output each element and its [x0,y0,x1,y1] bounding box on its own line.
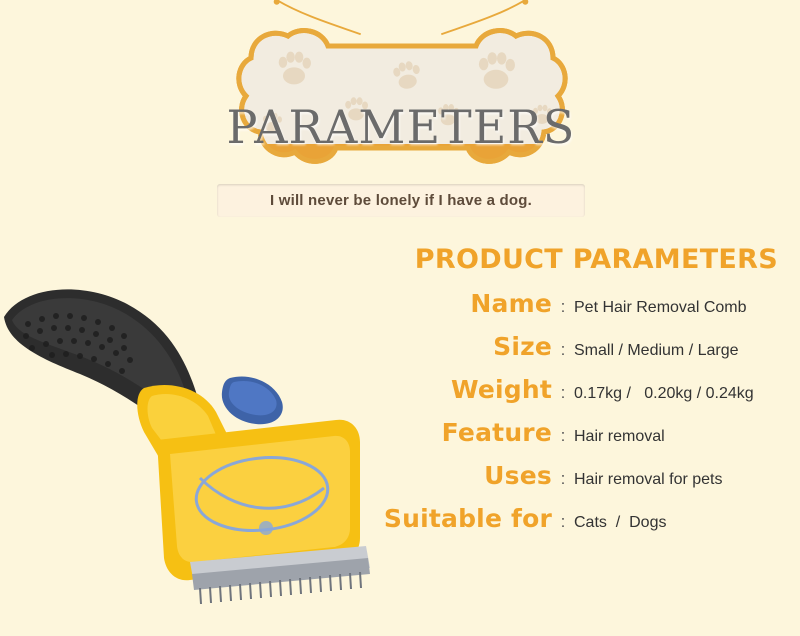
param-colon: : [552,340,574,360]
product-parameters: PRODUCT PARAMETERS Name : Pet Hair Remov… [330,244,790,533]
param-colon: : [552,297,574,317]
param-label: Weight [330,375,552,404]
param-label: Feature [330,418,552,447]
param-value: Cats / Dogs [574,514,666,532]
param-value: Small / Medium / Large [574,342,739,360]
param-colon: : [552,383,574,403]
param-label: Size [330,332,552,361]
params-heading: PRODUCT PARAMETERS [330,244,790,275]
param-row-uses: Uses : Hair removal for pets [330,461,790,490]
param-row-size: Size : Small / Medium / Large [330,332,790,361]
param-value: 0.17kg / 0.20kg / 0.24kg [574,385,754,403]
param-label: Name [330,289,552,318]
param-row-weight: Weight : 0.17kg / 0.20kg / 0.24kg [330,375,790,404]
banner-title: PARAMETERS [176,100,626,154]
param-row-suitable-for: Suitable for : Cats / Dogs [330,504,790,533]
param-row-feature: Feature : Hair removal [330,418,790,447]
banner: I will never be lonely if I have a dog. … [176,0,626,238]
param-label: Uses [330,461,552,490]
param-colon: : [552,426,574,446]
banner-subtitle: I will never be lonely if I have a dog. [217,187,585,214]
param-value: Hair removal [574,428,665,446]
param-colon: : [552,512,574,532]
param-value: Pet Hair Removal Comb [574,299,747,317]
param-colon: : [552,469,574,489]
param-row-name: Name : Pet Hair Removal Comb [330,289,790,318]
param-value: Hair removal for pets [574,471,723,489]
param-label: Suitable for [330,504,552,533]
